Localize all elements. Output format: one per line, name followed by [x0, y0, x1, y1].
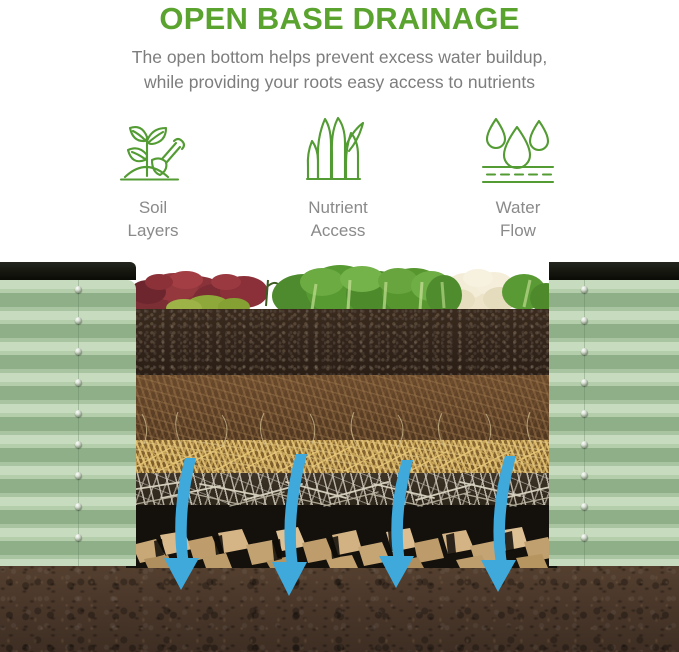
metal-panel-right — [549, 280, 679, 566]
panel-screw — [75, 534, 82, 541]
soil-layer-topsoil — [126, 309, 557, 375]
header: OPEN BASE DRAINAGE The open bottom helps… — [0, 0, 679, 110]
raised-garden-bed-cutaway-photo — [0, 262, 679, 652]
feature-label-line-1: Nutrient — [263, 196, 413, 219]
panel-screw — [75, 472, 82, 479]
bed-cross-section — [126, 262, 557, 568]
panel-screw — [75, 348, 82, 355]
bed-top-rail-left — [0, 262, 136, 280]
grass-blades-icon — [263, 112, 413, 190]
subtitle-line-1: The open bottom helps prevent excess wat… — [0, 45, 679, 70]
water-droplets-permeable-ground-icon — [443, 112, 593, 190]
panel-screw — [581, 286, 588, 293]
feature-label-line-1: Soil — [78, 196, 228, 219]
page-title: OPEN BASE DRAINAGE — [0, 0, 679, 34]
panel-screw — [75, 441, 82, 448]
feature-label-soil-layers: Soil Layers — [78, 196, 228, 242]
feature-label-line-2: Flow — [443, 219, 593, 242]
metal-panel-left — [0, 280, 136, 566]
feature-label-line-2: Access — [263, 219, 413, 242]
panel-screw — [581, 317, 588, 324]
soil-layer-chopped-logs — [126, 505, 557, 568]
panel-screw — [581, 503, 588, 510]
ground-soil — [0, 564, 679, 652]
corrugated-surface-right — [549, 280, 679, 566]
panel-screw — [75, 286, 82, 293]
feature-label-line-1: Water — [443, 196, 593, 219]
bed-top-rail-right — [549, 262, 679, 280]
panel-screw — [75, 503, 82, 510]
feature-water-flow: Water Flow — [443, 112, 593, 242]
page-subtitle: The open bottom helps prevent excess wat… — [0, 45, 679, 95]
feature-nutrient-access: Nutrient Access — [263, 112, 413, 242]
panel-screw — [581, 441, 588, 448]
corrugated-surface-left — [0, 280, 136, 566]
feature-label-water-flow: Water Flow — [443, 196, 593, 242]
seedling-shovel-icon — [78, 112, 228, 190]
panel-screw — [581, 348, 588, 355]
panel-screw — [75, 410, 82, 417]
panel-screw — [581, 472, 588, 479]
vegetable-tops — [126, 262, 557, 309]
green-cabbage — [272, 265, 451, 312]
cauliflower — [426, 269, 557, 312]
red-leaf-lettuce — [127, 271, 268, 312]
panel-screw — [75, 379, 82, 386]
root-threads — [126, 412, 557, 458]
panel-screw — [75, 317, 82, 324]
feature-label-nutrient-access: Nutrient Access — [263, 196, 413, 242]
panel-screw — [581, 534, 588, 541]
feature-row: Soil Layers — [0, 112, 679, 262]
feature-soil-layers: Soil Layers — [78, 112, 228, 242]
feature-label-line-2: Layers — [78, 219, 228, 242]
log-pile — [126, 505, 557, 568]
subtitle-line-2: while providing your roots easy access t… — [0, 70, 679, 95]
infographic-page: OPEN BASE DRAINAGE The open bottom helps… — [0, 0, 679, 652]
panel-screw — [581, 379, 588, 386]
panel-screw — [581, 410, 588, 417]
twig-sticks — [126, 468, 557, 512]
